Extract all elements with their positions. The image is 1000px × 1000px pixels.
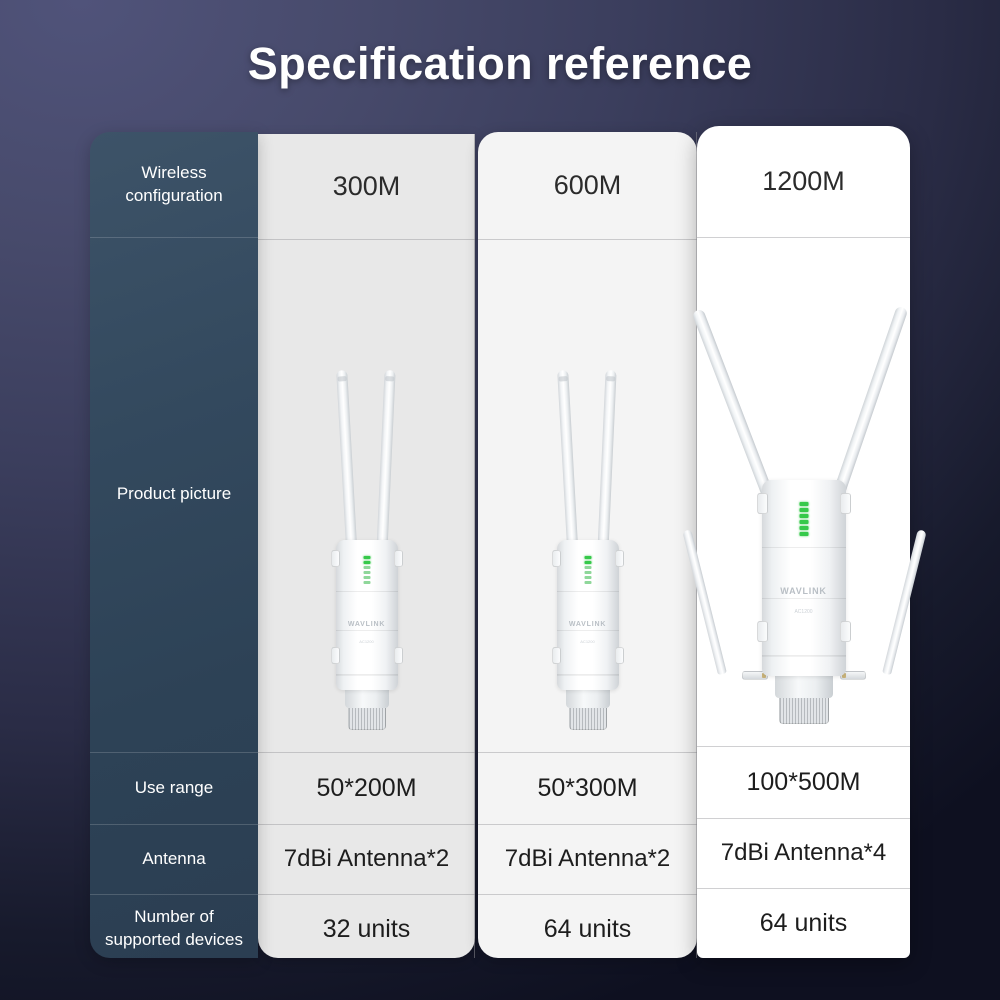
access-point-body: WAVLINK AC1200 <box>336 540 398 690</box>
model-submark: AC1200 <box>580 639 594 644</box>
devices-text-600m: 64 units <box>544 915 632 944</box>
value-antenna-300m: 7dBi Antenna*2 <box>258 824 475 894</box>
table-label-column: Wireless configuration Product picture U… <box>90 132 258 958</box>
header-text-1200m: 1200M <box>762 166 845 197</box>
brand-logo: WAVLINK <box>348 621 385 628</box>
header-text-600m: 600M <box>554 170 622 201</box>
use-range-text-1200m: 100*500M <box>747 768 861 797</box>
base-collar <box>566 690 610 708</box>
mount-tab-icon <box>757 493 768 514</box>
model-submark: AC1200 <box>794 609 812 615</box>
mount-tab-icon <box>840 621 851 642</box>
antenna-text-300m: 7dBi Antenna*2 <box>284 845 449 873</box>
column-header-1200m: 1200M <box>697 126 910 237</box>
value-devices-300m: 32 units <box>258 894 475 964</box>
led-indicator-strip <box>584 556 591 584</box>
base-knurled-ring <box>348 708 386 730</box>
row-label-wireless-configuration: Wireless configuration <box>90 132 258 237</box>
table-column-1200m[interactable]: 1200M <box>697 126 910 958</box>
model-submark: AC1200 <box>359 639 373 644</box>
antenna-text-1200m: 7dBi Antenna*4 <box>721 839 886 867</box>
label-product-picture: Product picture <box>117 483 231 506</box>
product-image-300m: WAVLINK AC1200 <box>258 239 475 752</box>
mount-tab-icon <box>331 647 340 664</box>
header-text-300m: 300M <box>333 171 401 202</box>
mount-tab-icon <box>840 493 851 514</box>
devices-text-300m: 32 units <box>323 915 411 944</box>
led-indicator-strip <box>799 502 808 536</box>
mount-tab-icon <box>394 647 403 664</box>
row-label-use-range: Use range <box>90 752 258 824</box>
mount-tab-icon <box>615 647 624 664</box>
mount-tab-icon <box>757 621 768 642</box>
value-use-range-600m: 50*300M <box>478 752 697 824</box>
value-antenna-1200m: 7dBi Antenna*4 <box>697 818 910 888</box>
product-image-1200m: WAVLINK AC1200 <box>697 237 910 746</box>
brand-logo: WAVLINK <box>569 621 606 628</box>
product-image-600m: WAVLINK AC1200 <box>478 239 697 752</box>
label-use-range: Use range <box>135 777 213 800</box>
mount-tab-icon <box>615 550 624 567</box>
base-knurled-ring <box>569 708 607 730</box>
mount-tab-icon <box>552 647 561 664</box>
specification-reference-page: Specification reference Wireless configu… <box>0 0 1000 1000</box>
label-antenna: Antenna <box>142 848 205 871</box>
page-title: Specification reference <box>0 38 1000 90</box>
devices-text-1200m: 64 units <box>760 909 848 938</box>
antenna-text-600m: 7dBi Antenna*2 <box>505 845 670 873</box>
base-collar <box>345 690 389 708</box>
value-use-range-300m: 50*200M <box>258 752 475 824</box>
mount-tab-icon <box>394 550 403 567</box>
antenna-side-right-icon <box>882 529 927 675</box>
use-range-text-600m: 50*300M <box>537 774 637 803</box>
value-antenna-600m: 7dBi Antenna*2 <box>478 824 697 894</box>
value-devices-1200m: 64 units <box>697 888 910 958</box>
base-collar <box>775 676 833 698</box>
value-use-range-1200m: 100*500M <box>697 746 910 818</box>
label-devices-line2: supported devices <box>105 930 243 949</box>
row-label-supported-devices: Number of supported devices <box>90 894 258 964</box>
led-indicator-strip <box>363 556 370 584</box>
label-wireless-line1: Wireless <box>141 163 206 182</box>
brand-logo: WAVLINK <box>780 586 826 596</box>
row-label-product-picture: Product picture <box>90 237 258 752</box>
column-header-300m: 300M <box>258 134 475 239</box>
mount-tab-icon <box>331 550 340 567</box>
table-column-600m[interactable]: 600M <box>478 132 697 958</box>
access-point-body: WAVLINK AC1200 <box>557 540 619 690</box>
value-devices-600m: 64 units <box>478 894 697 964</box>
base-knurled-ring <box>779 698 829 724</box>
column-header-600m: 600M <box>478 132 697 239</box>
table-column-300m[interactable]: 300M <box>258 134 475 958</box>
use-range-text-300m: 50*200M <box>316 774 416 803</box>
specification-table: Wireless configuration Product picture U… <box>90 126 910 958</box>
mount-tab-icon <box>552 550 561 567</box>
row-label-antenna: Antenna <box>90 824 258 894</box>
label-wireless-line2: configuration <box>125 186 222 205</box>
label-devices-line1: Number of <box>134 907 213 926</box>
access-point-body: WAVLINK AC1200 <box>762 480 846 676</box>
